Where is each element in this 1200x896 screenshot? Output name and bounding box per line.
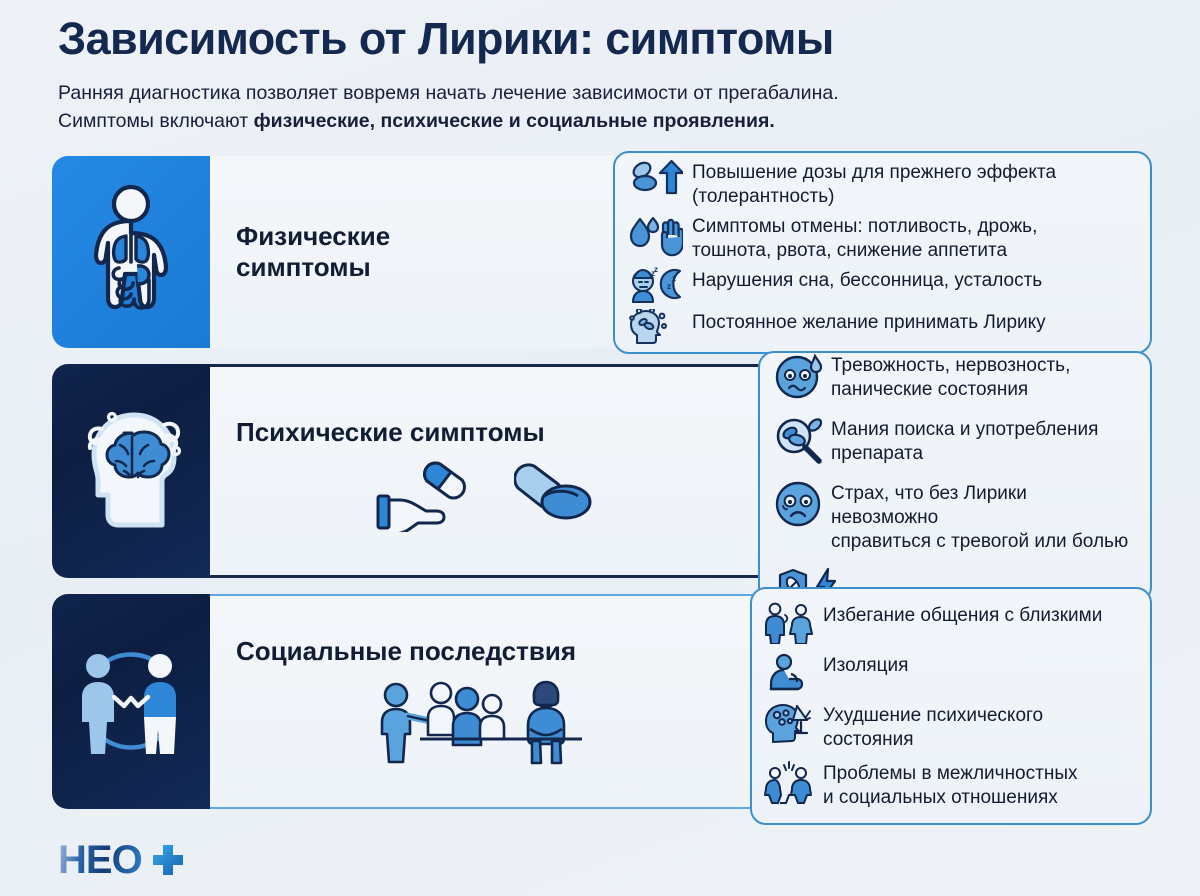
card-psychological: Психические симптомы [52,364,1148,578]
svg-text:z: z [654,267,658,274]
card-heading-social: Социальные последствия [210,632,590,667]
card-heading-psychological: Психические симптомы [210,409,594,448]
brand-logo: НЕО [58,840,188,880]
subtitle-line-1: Ранняя диагностика позволяет вовремя нач… [58,80,1142,108]
list-item: Симптомы отмены: потливость, дрожь, тошн… [629,213,1132,263]
list-item: Страх, что без Лирики невозможно справит… [774,480,1134,554]
list-item-text: Повышение дозы для прежнего эффекта (тол… [692,159,1132,209]
deteriorating-mind-icon [764,702,814,744]
list-item-text: Проблемы в межличностных и социальных от… [823,760,1077,810]
svg-text:z: z [667,282,671,291]
card-social: Социальные последствия [52,594,1148,809]
list-item-text: Страх, что без Лирики невозможно справит… [831,480,1134,554]
list-item-text: Мания поиска и употребления препарата [831,416,1098,466]
head-brain-icon [72,407,190,535]
list-item-text: Нарушения сна, бессонница, усталость [692,267,1042,293]
list-item: Повышение дозы для прежнего эффекта (тол… [629,159,1132,209]
page-title: Зависимость от Лирики: симптомы [58,14,1142,64]
list-item-text: Ухудшение психического состояния [823,702,1134,752]
magnifier-pills-icon [774,416,822,464]
card-inner-psychological: Психические симптомы [210,367,594,575]
card-body-physical: Физические симптомы Повышение дозы для п… [210,156,1148,348]
sad-worried-face-icon [774,480,822,528]
card-decor-psychological [210,458,594,532]
list-item: Избегание общения с близкими [764,602,1134,644]
list-item-text: Изоляция [823,652,908,678]
cards-container: Физические симптомы Повышение дозы для п… [0,156,1200,809]
card-heading-physical: Физические симптомы [210,221,460,282]
pills-up-arrow-icon [629,159,683,195]
list-item: zz zz Нарушения сна, бессонница, усталос… [629,267,1132,305]
card-body-social: Социальные последствия [210,594,1148,809]
list-item: Мания поиска и употребления препарата [774,416,1134,466]
card-physical: Физические симптомы Повышение дозы для п… [52,156,1148,348]
avoiding-couple-icon [764,602,814,644]
sleeping-face-moon-icon: zz zz [629,267,683,305]
card-decor-social [210,673,590,770]
plus-icon [148,840,188,880]
card-inner-social: Социальные последствия [210,596,590,807]
list-item: Проблемы в межличностных и социальных от… [764,760,1134,810]
tile-psychological [52,364,210,578]
conflict-people-icon [764,760,814,804]
tile-social [52,594,210,809]
sweat-drops-hand-icon [629,213,683,257]
list-item: Постоянное желание принимать Лирику [629,309,1132,345]
two-people-broken-bond-icon [68,642,194,760]
group-exclusion-icon [374,673,590,765]
isolated-person-icon [764,652,814,694]
subtitle-plain: Симптомы включают [58,110,254,132]
card-body-psychological: Психические симптомы [210,364,1148,578]
panel-psychological-symptoms: Тревожность, нервозность, панические сос… [758,351,1152,603]
svg-text:z: z [672,274,676,283]
craving-head-icon [629,309,683,345]
page-subtitle: Ранняя диагностика позволяет вовремя нач… [58,80,1142,135]
pills-cluster-icon [514,462,594,528]
header: Зависимость от Лирики: симптомы Ранняя д… [0,0,1200,136]
anxious-face-icon [774,352,822,400]
list-item-text: Симптомы отмены: потливость, дрожь, тошн… [692,213,1037,263]
human-body-organs-icon [79,184,183,320]
subtitle-bold: физические, психические и социальные про… [254,110,775,132]
panel-social-consequences: Избегание общения с близкими Изоляция [750,587,1152,825]
list-item: Ухудшение психического состояния [764,702,1134,752]
list-item-text: Избегание общения с близкими [823,602,1102,628]
subtitle-line-2: Симптомы включают физические, психически… [58,108,1142,136]
list-item: Изоляция [764,652,1134,694]
logo-text: НЕО [58,840,142,880]
tile-physical [52,156,210,348]
panel-physical-symptoms: Повышение дозы для прежнего эффекта (тол… [613,151,1152,354]
list-item-text: Тревожность, нервозность, панические сос… [831,352,1070,402]
hand-holding-capsule-icon [376,458,480,532]
list-item: Тревожность, нервозность, панические сос… [774,352,1134,402]
list-item-text: Постоянное желание принимать Лирику [692,309,1046,335]
